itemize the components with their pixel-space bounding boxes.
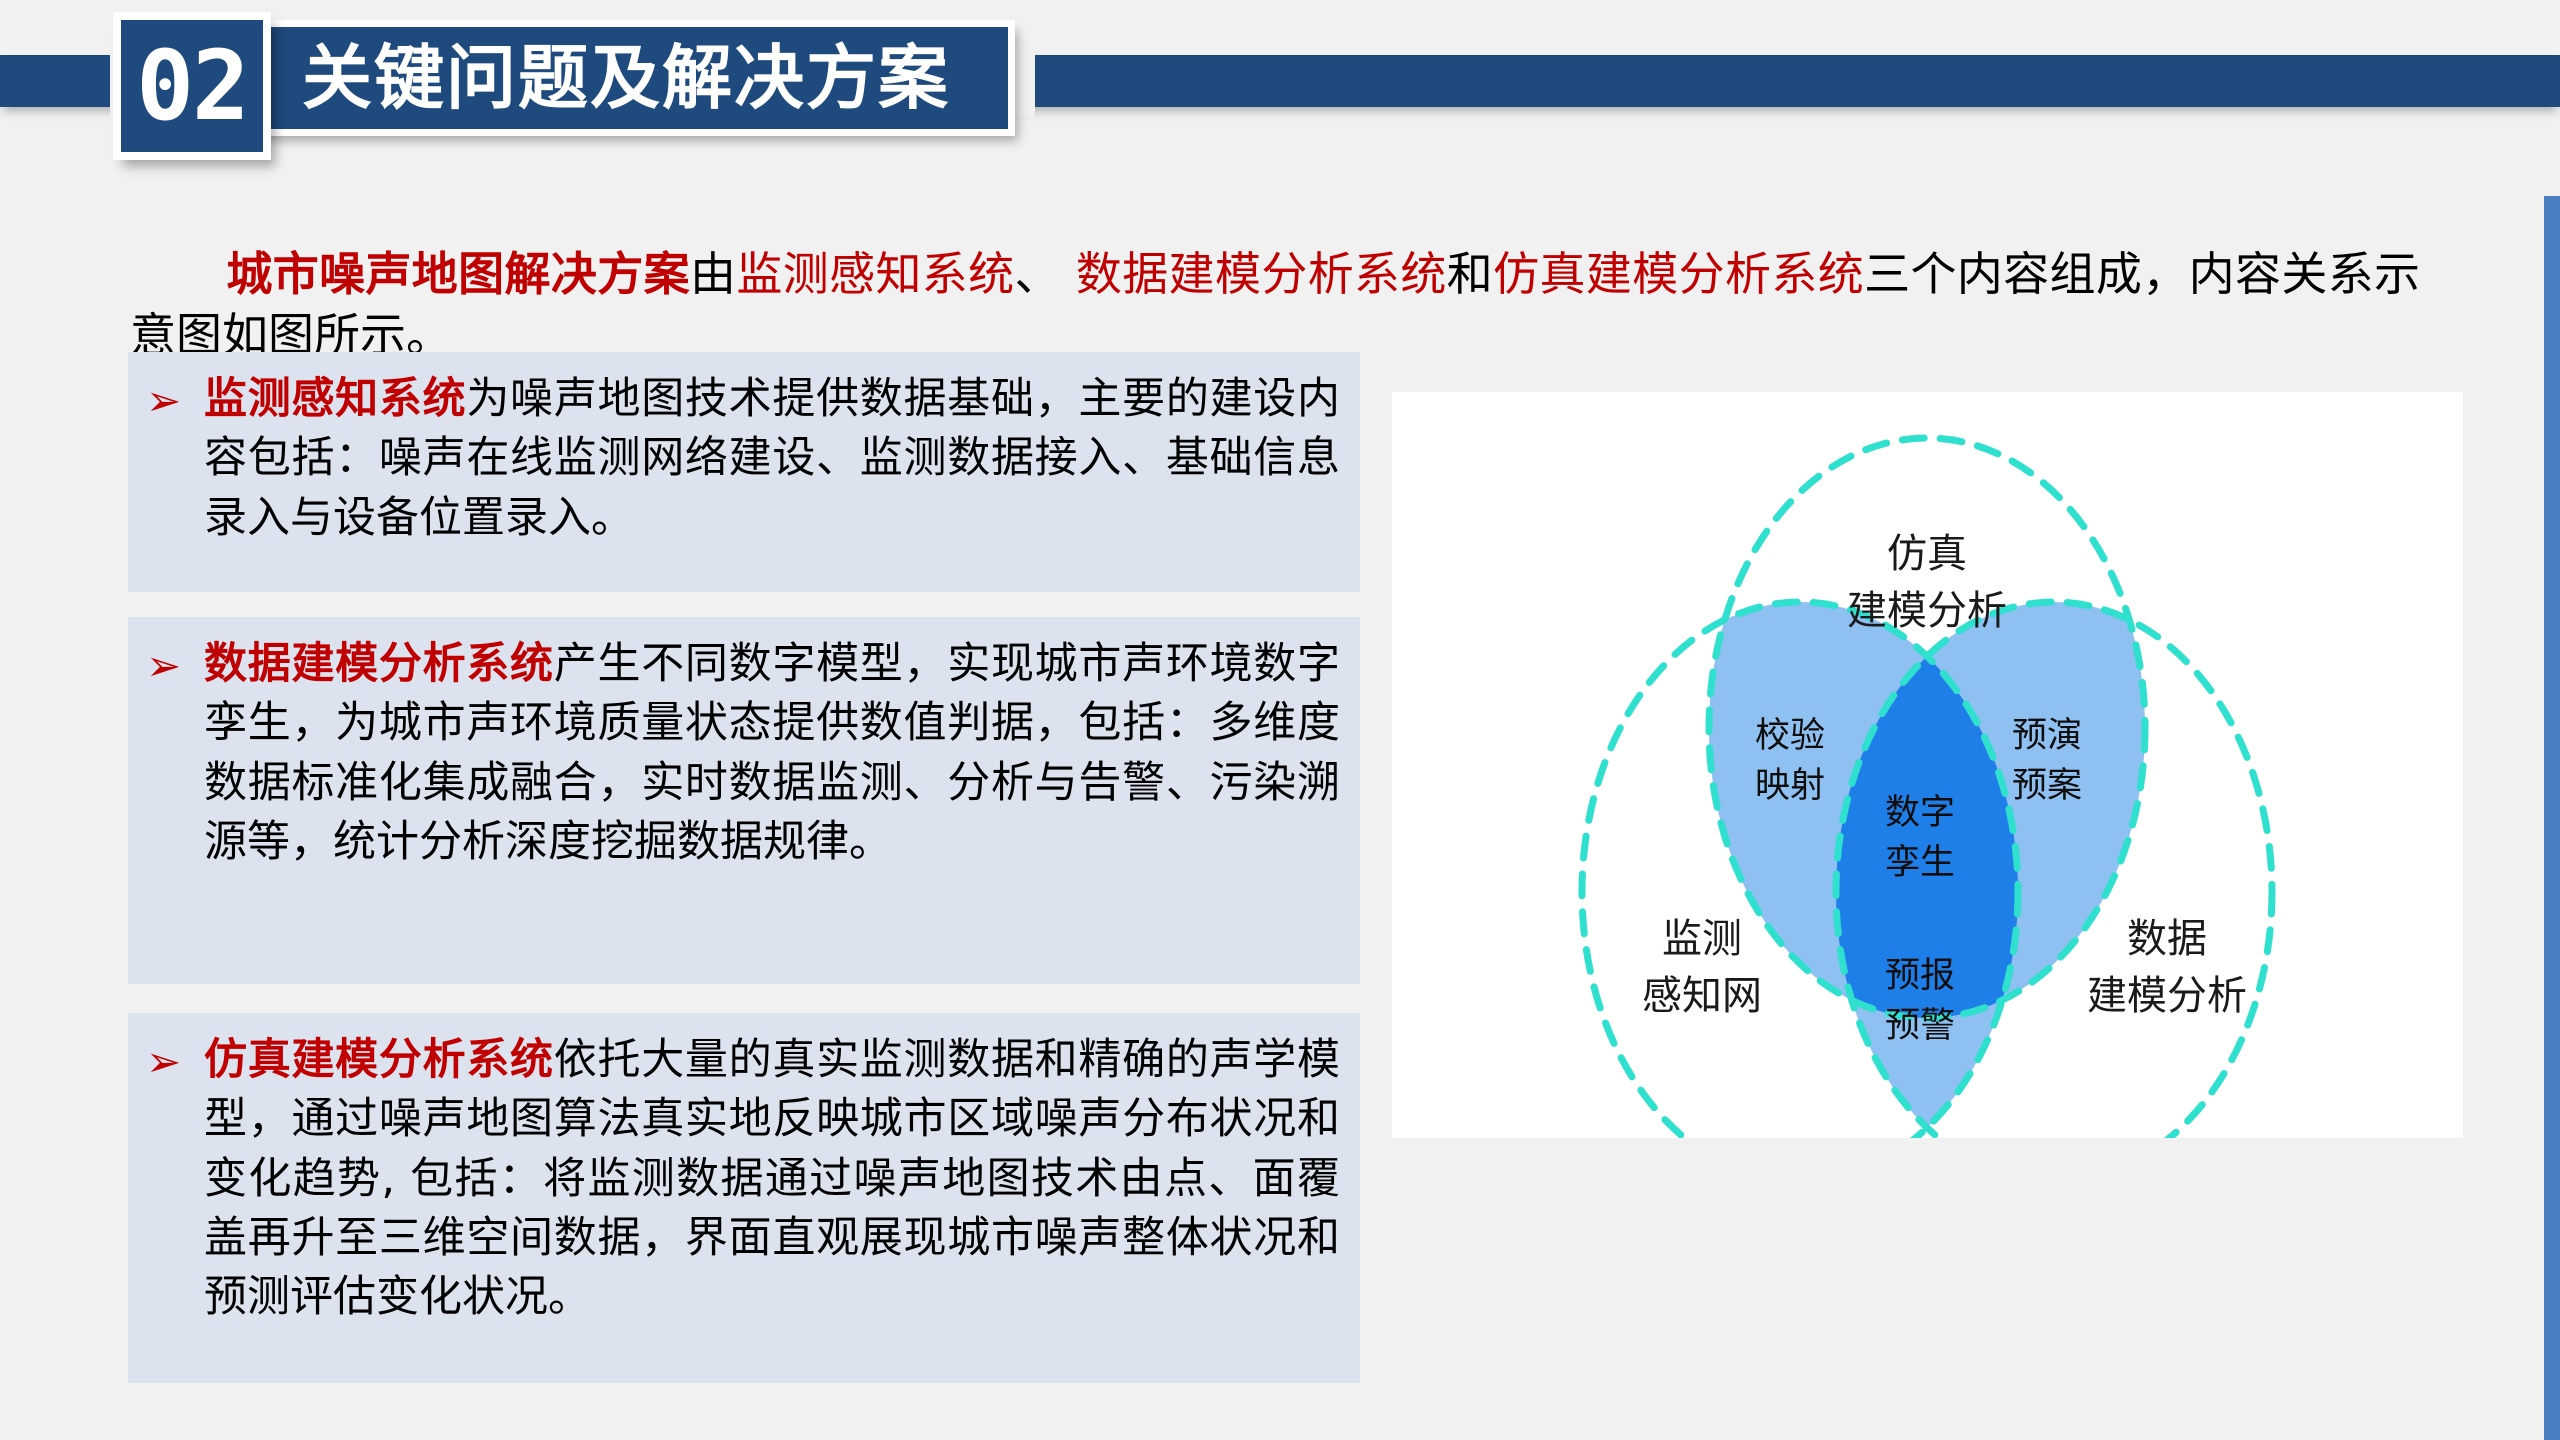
venn-core-line1: 数字 [1885,793,1955,833]
intro-segment-modeling: 数据建模分析系统 [1076,247,1447,301]
venn-diagram-card: 仿真 建模分析 监测 感知网 数据 建模分析 校验 映射 预演 预案 预报 预警… [1392,392,2463,1138]
venn-label-bl-line2: 感知网 [1642,973,1762,1019]
bullet-row: ➢ 仿真建模分析系统依托大量的真实监测数据和精确的声学模型，通过噪声地图算法真实… [146,1031,1340,1328]
venn-diagram-svg: 仿真 建模分析 监测 感知网 数据 建模分析 校验 映射 预演 预案 预报 预警… [1392,392,2463,1138]
venn-label-br-line2: 建模分析 [2087,973,2247,1019]
venn-label-br-line1: 数据 [2127,916,2207,962]
venn-core-line2: 孪生 [1885,843,1955,883]
venn-lens-bottom-line1: 预报 [1885,956,1955,996]
intro-segment-simulation: 仿真建模分析系统 [1493,247,1864,301]
bullet-lead-term: 监测感知系统 [204,374,466,424]
intro-segment-sep1: 、 [1015,247,1076,301]
intro-segment-by: 由 [690,247,736,301]
bullet-row: ➢ 数据建模分析系统产生不同数字模型，实现城市声环境数字孪生，为城市声环境质量状… [146,635,1340,872]
intro-segment-and: 和 [1447,247,1493,301]
page-title: 关键问题及解决方案 [302,43,950,113]
venn-lens-top-right-line2: 预案 [2012,766,2082,806]
venn-label-bl-line1: 监测 [1662,916,1742,962]
bullet-text: 仿真建模分析系统依托大量的真实监测数据和精确的声学模型，通过噪声地图算法真实地反… [204,1031,1340,1328]
venn-label-top-line1: 仿真 [1887,531,1967,577]
bullet-card-simulation: ➢ 仿真建模分析系统依托大量的真实监测数据和精确的声学模型，通过噪声地图算法真实… [128,1013,1360,1383]
right-edge-accent-strip [2544,196,2560,1440]
header-band: 关键问题及解决方案 02 [0,0,2560,200]
arrow-bullet-icon: ➢ [146,635,204,695]
intro-paragraph: 城市噪声地图解决方案由监测感知系统、 数据建模分析系统和仿真建模分析系统三个内容… [130,244,2420,365]
venn-lens-bottom-line2: 预警 [1885,1006,1955,1046]
bullet-card-data-modeling: ➢ 数据建模分析系统产生不同数字模型，实现城市声环境数字孪生，为城市声环境质量状… [128,617,1360,984]
venn-lens-top-left-line2: 映射 [1755,766,1825,806]
section-number-badge: 02 [113,12,271,160]
section-number: 02 [136,38,248,134]
bullet-lead-term: 数据建模分析系统 [204,639,554,689]
arrow-bullet-icon: ➢ [146,370,204,430]
arrow-bullet-icon: ➢ [146,1031,204,1091]
bullet-card-monitoring: ➢ 监测感知系统为噪声地图技术提供数据基础，主要的建设内容包括：噪声在线监测网络… [128,352,1360,592]
venn-lens-top-left-line1: 校验 [1755,716,1825,756]
bullet-row: ➢ 监测感知系统为噪声地图技术提供数据基础，主要的建设内容包括：噪声在线监测网络… [146,370,1340,548]
intro-segment-solution: 城市噪声地图解决方案 [226,247,690,301]
bullet-lead-term: 仿真建模分析系统 [204,1035,554,1085]
bullet-text: 数据建模分析系统产生不同数字模型，实现城市声环境数字孪生，为城市声环境质量状态提… [204,635,1340,872]
venn-lens-top-right-line1: 预演 [2012,716,2082,756]
section-title-plate: 关键问题及解决方案 [185,20,1015,136]
bullet-text: 监测感知系统为噪声地图技术提供数据基础，主要的建设内容包括：噪声在线监测网络建设… [204,370,1340,548]
intro-segment-sensing: 监测感知系统 [736,247,1014,301]
venn-label-top-line2: 建模分析 [1847,588,2007,634]
